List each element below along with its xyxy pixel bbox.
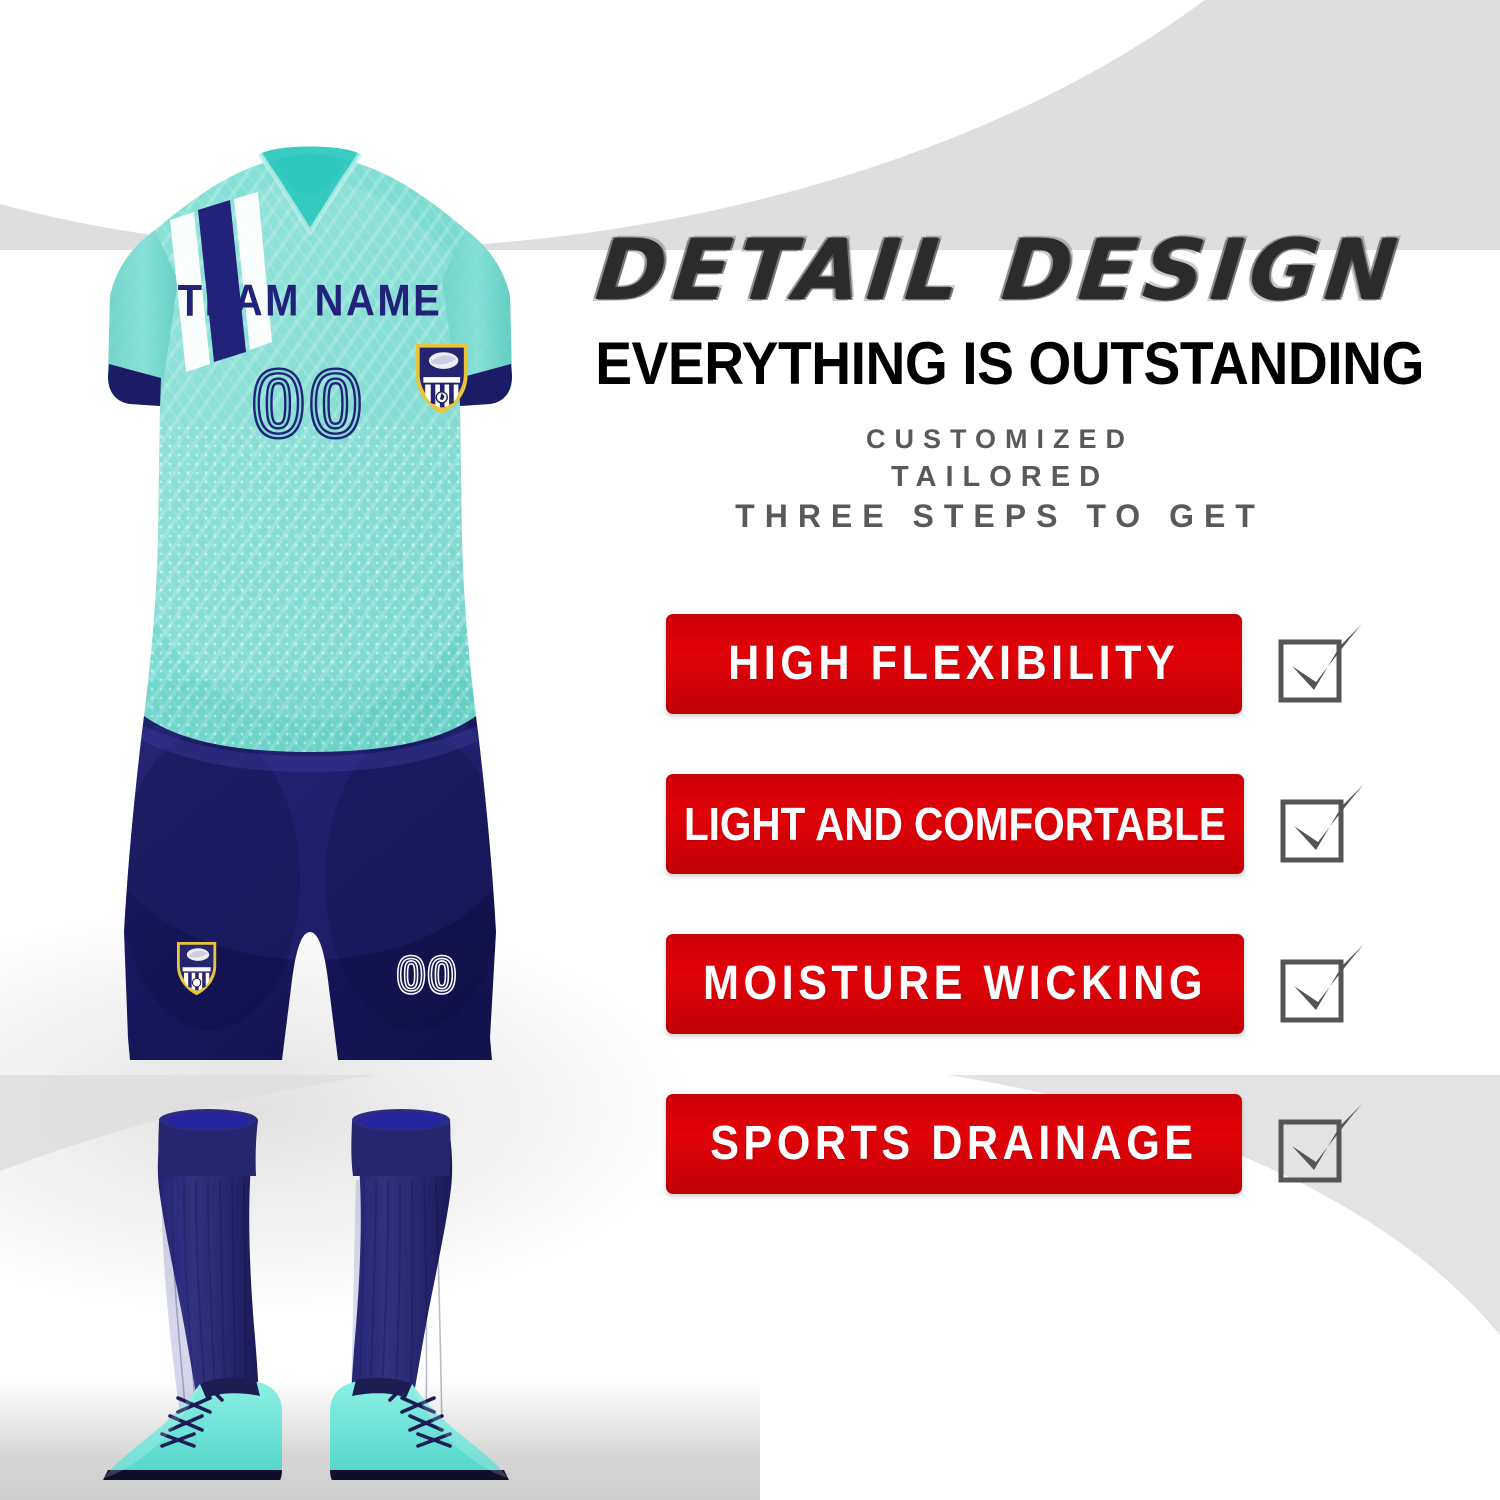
checkbox-checked-icon[interactable] <box>1270 616 1366 712</box>
feature-banner-sports-drainage[interactable]: SPORTS DRAINAGE <box>666 1094 1242 1194</box>
marketing-copy-column: DETAIL DESIGN EVERYTHING IS OUTSTANDING … <box>560 228 1440 536</box>
checkbox-checked-icon[interactable] <box>1270 1096 1366 1192</box>
checkbox-checked-icon[interactable] <box>1272 936 1368 1032</box>
feature-label: HIGH FLEXIBILITY <box>728 640 1179 688</box>
svg-text:00: 00 <box>397 947 459 1003</box>
jersey-team-name-text: TEAM NAME <box>178 275 443 325</box>
feature-list: HIGH FLEXIBILITY LIGHT AND COMFORTABLE <box>666 614 1366 1254</box>
svg-text:00: 00 <box>253 353 367 455</box>
feature-row: HIGH FLEXIBILITY <box>666 614 1366 714</box>
feature-banner-light-and-comfortable[interactable]: LIGHT AND COMFORTABLE <box>666 774 1244 874</box>
jersey-number: 00 00 <box>253 353 367 455</box>
feature-label: LIGHT AND COMFORTABLE <box>684 801 1226 847</box>
headline-brush-title: DETAIL DESIGN <box>556 228 1445 312</box>
feature-label: SPORTS DRAINAGE <box>710 1120 1198 1168</box>
tagline-tailored: TAILORED <box>560 460 1440 494</box>
feature-label: MOISTURE WICKING <box>703 960 1207 1008</box>
feature-banner-high-flexibility[interactable]: HIGH FLEXIBILITY <box>666 614 1242 714</box>
checkbox-checked-icon[interactable] <box>1272 776 1368 872</box>
soccer-uniform-illustration: TEAM NAME 00 00 <box>60 120 560 1480</box>
feature-row: MOISTURE WICKING <box>666 934 1366 1034</box>
headline-subtitle: EVERYTHING IS OUTSTANDING <box>595 334 1405 394</box>
tagline-block: CUSTOMIZED TAILORED THREE STEPS TO GET <box>560 424 1440 536</box>
feature-row: SPORTS DRAINAGE <box>666 1094 1366 1194</box>
tagline-customized: CUSTOMIZED <box>560 424 1440 456</box>
shorts-number: 00 00 <box>397 947 459 1003</box>
cleat-right <box>330 1378 509 1480</box>
tagline-three-steps: THREE STEPS TO GET <box>560 498 1440 536</box>
feature-banner-moisture-wicking[interactable]: MOISTURE WICKING <box>666 934 1244 1034</box>
feature-row: LIGHT AND COMFORTABLE <box>666 774 1366 874</box>
product-detail-banner: TEAM NAME 00 00 <box>0 0 1500 1500</box>
